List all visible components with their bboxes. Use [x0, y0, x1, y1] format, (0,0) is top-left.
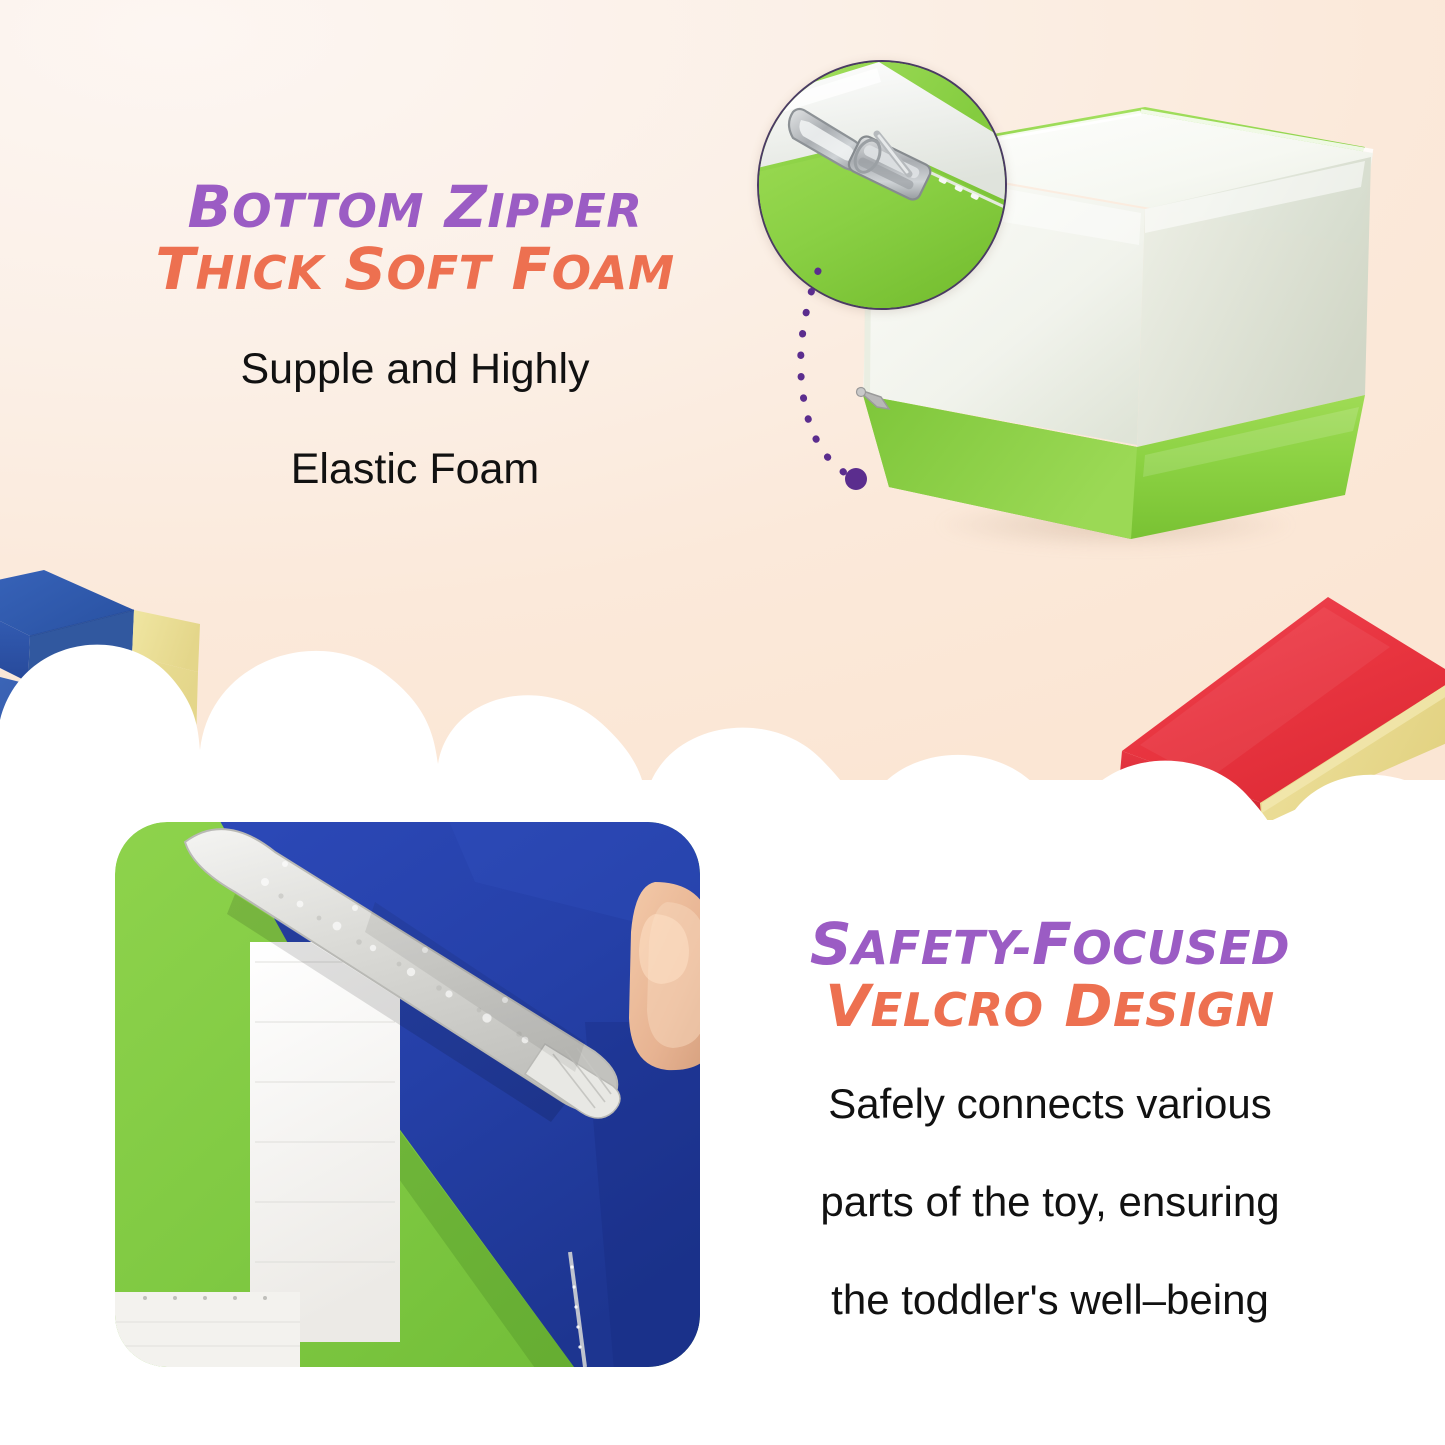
- bottom-body-line2: parts of the toy, ensuring: [720, 1172, 1380, 1232]
- top-body-line1: Supple and Highly: [95, 341, 735, 398]
- top-heading-line2: THICK SOFT FOAM: [95, 240, 735, 300]
- top-body-line2: Elastic Foam: [95, 441, 735, 498]
- red-ramp-art: [1110, 585, 1445, 820]
- top-text-block: BOTTOM ZIPPER THICK SOFT FOAM Supple and…: [95, 178, 735, 498]
- infographic-canvas: BOTTOM ZIPPER THICK SOFT FOAM Supple and…: [0, 0, 1445, 1445]
- velcro-strip-photo: [115, 822, 700, 1367]
- bottom-text-block: SAFETY-FOCUSED VELCRO DESIGN Safely conn…: [720, 915, 1380, 1329]
- bottom-body-line1: Safely connects various: [720, 1074, 1380, 1134]
- dotted-connector-line: [790, 265, 900, 495]
- red-ramp-block: [1110, 585, 1445, 820]
- bottom-heading-line1: SAFETY-FOCUSED: [720, 915, 1380, 975]
- top-heading-line1: BOTTOM ZIPPER: [95, 178, 735, 238]
- bottom-body-line3: the toddler's well–being: [720, 1270, 1380, 1330]
- blue-step-art: [0, 552, 227, 802]
- connector-art: [790, 265, 900, 495]
- blue-step-block: [0, 552, 227, 802]
- bottom-heading-line2: VELCRO DESIGN: [720, 977, 1380, 1037]
- velcro-photo-art: [115, 822, 700, 1367]
